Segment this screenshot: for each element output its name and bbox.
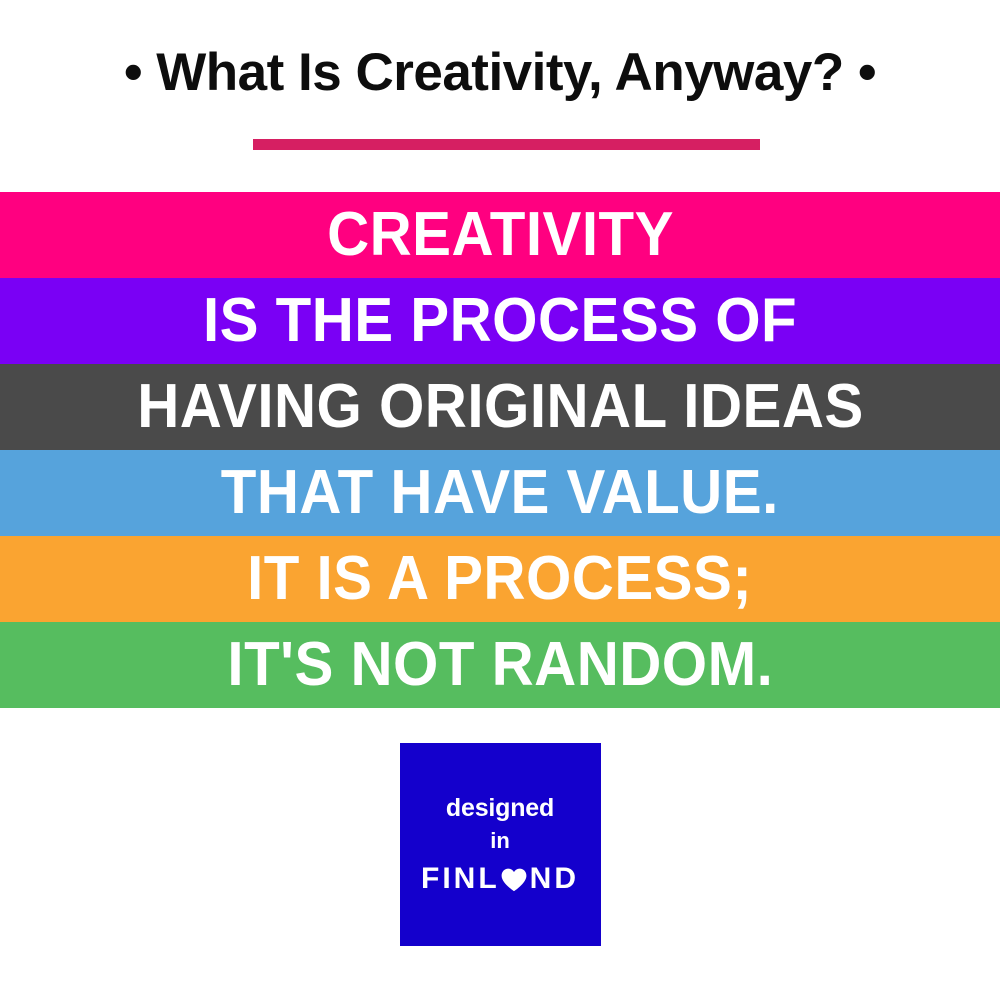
quote-band-6: IT'S NOT RANDOM. [0,622,1000,708]
quote-band-stack: CREATIVITY IS THE PROCESS OF HAVING ORIG… [0,192,1000,708]
quote-band-6-text: IT'S NOT RANDOM. [227,634,773,696]
logo-line-in: in [490,830,510,852]
heart-icon [501,868,527,892]
poster-canvas: • What Is Creativity, Anyway? • CREATIVI… [0,0,1000,1000]
quote-band-5-text: IT IS A PROCESS; [247,548,752,610]
quote-band-4: THAT HAVE VALUE. [0,450,1000,536]
quote-band-3: HAVING ORIGINAL IDEAS [0,364,1000,450]
quote-band-2-text: IS THE PROCESS OF [203,290,797,352]
quote-band-1: CREATIVITY [0,192,1000,278]
logo-word-suffix: ND [530,864,579,894]
poster-header: • What Is Creativity, Anyway? • [0,0,1000,192]
poster-footer: designed in FINL ND [0,708,1000,1000]
logo-line-designed: designed [446,796,554,821]
page-title: • What Is Creativity, Anyway? • [124,0,876,101]
quote-band-1-text: CREATIVITY [327,204,674,266]
quote-band-5: IT IS A PROCESS; [0,536,1000,622]
logo-line-finland: FINL ND [421,864,579,894]
quote-band-3-text: HAVING ORIGINAL IDEAS [137,376,864,438]
quote-band-2: IS THE PROCESS OF [0,278,1000,364]
quote-band-4-text: THAT HAVE VALUE. [221,462,779,524]
logo-word-prefix: FINL [421,864,500,894]
title-underline-rule [253,139,760,150]
designed-in-finland-logo: designed in FINL ND [400,743,601,946]
